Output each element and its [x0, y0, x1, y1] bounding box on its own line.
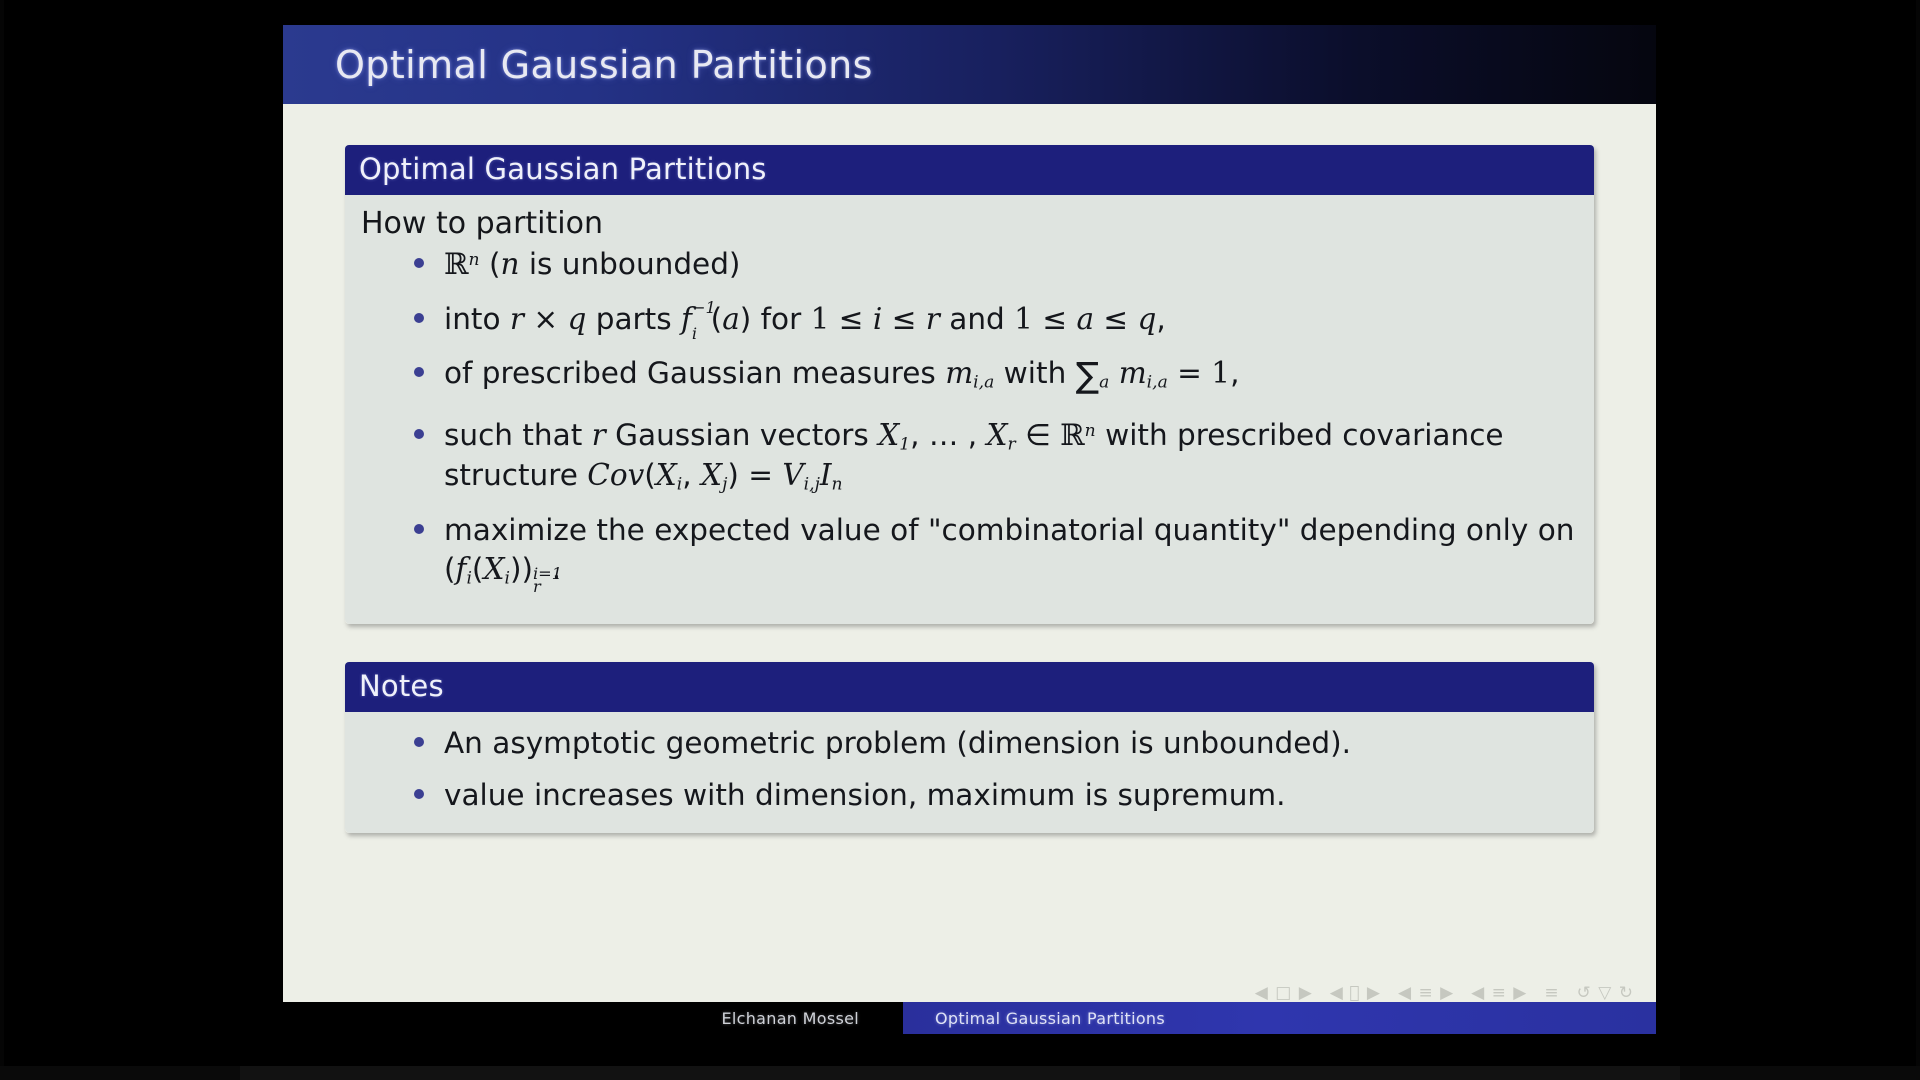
nav-symbol-toc[interactable]: ≡ [1544, 983, 1559, 1003]
bullet-dot-icon [414, 367, 424, 377]
frame-edge-left [0, 0, 4, 1080]
list-item-text: into r × q parts fi−1 (a) for 1 ≤ i ≤ r … [444, 302, 1166, 336]
frame-edge-right [1916, 0, 1920, 1080]
slide-footer: Elchanan Mossel Optimal Gaussian Partiti… [283, 1002, 1656, 1034]
bullet-dot-icon [414, 258, 424, 268]
nav-symbol-frame[interactable]: ◀ ⃒ ▶ [1330, 983, 1381, 1003]
list-item-text: of prescribed Gaussian measures mi,a wit… [444, 356, 1239, 390]
list-item: into r × q parts fi−1 (a) for 1 ≤ i ≤ r … [412, 300, 1576, 339]
block-body: How to partition ℝn (n is unbounded) int… [345, 195, 1594, 624]
block-title: Notes [345, 662, 1594, 712]
video-frame: Optimal Gaussian Partitions Optimal Gaus… [0, 0, 1920, 1080]
block-body: An asymptotic geometric problem (dimensi… [345, 712, 1594, 833]
beamer-navigation-symbols[interactable]: ◀ □ ▶ ◀ ⃒ ▶ ◀ ≡ ▶ ◀ ≡ ▶ ≡ ↺ ▽ ↻ [1255, 983, 1634, 1003]
list-item: ℝn (n is unbounded) [412, 245, 1576, 284]
nav-symbol-slide[interactable]: ◀ □ ▶ [1255, 983, 1313, 1003]
list-item-text: such that r Gaussian vectors X1, … , Xr … [444, 418, 1504, 492]
bottom-strip [0, 1066, 1920, 1080]
block-optimal-gaussian-partitions: Optimal Gaussian Partitions How to parti… [345, 145, 1594, 624]
bullet-dot-icon [414, 313, 424, 323]
list-item: of prescribed Gaussian measures mi,a wit… [412, 354, 1576, 400]
bullet-list: An asymptotic geometric problem (dimensi… [359, 724, 1576, 815]
bullet-dot-icon [414, 429, 424, 439]
slide-body: Optimal Gaussian Partitions How to parti… [283, 104, 1656, 1025]
bullet-dot-icon [414, 524, 424, 534]
list-item-text: value increases with dimension, maximum … [444, 778, 1286, 812]
block-lead-text: How to partition [359, 206, 1576, 245]
slide-title: Optimal Gaussian Partitions [283, 43, 873, 87]
nav-symbol-subsection[interactable]: ◀ ≡ ▶ [1398, 983, 1454, 1003]
nav-symbol-section[interactable]: ◀ ≡ ▶ [1471, 983, 1527, 1003]
list-item: maximize the expected value of "combinat… [412, 511, 1576, 589]
list-item-text: An asymptotic geometric problem (dimensi… [444, 726, 1351, 760]
bullet-list: ℝn (n is unbounded) into r × q parts fi−… [359, 245, 1576, 590]
slide-title-bar: Optimal Gaussian Partitions [283, 25, 1656, 104]
footer-author: Elchanan Mossel [283, 1002, 903, 1034]
footer-presentation-title: Optimal Gaussian Partitions [903, 1002, 1656, 1034]
nav-symbol-back-forward[interactable]: ↺ ▽ ↻ [1577, 983, 1634, 1003]
list-item: An asymptotic geometric problem (dimensi… [412, 724, 1576, 763]
block-notes: Notes An asymptotic geometric problem (d… [345, 662, 1594, 833]
list-item-text: ℝn (n is unbounded) [444, 247, 740, 281]
bullet-dot-icon [414, 737, 424, 747]
presentation-slide: Optimal Gaussian Partitions Optimal Gaus… [283, 25, 1656, 1025]
list-item-text: maximize the expected value of "combinat… [444, 513, 1574, 586]
bottom-strip-inner [240, 1066, 1680, 1080]
list-item: value increases with dimension, maximum … [412, 776, 1576, 815]
bullet-dot-icon [414, 789, 424, 799]
block-title: Optimal Gaussian Partitions [345, 145, 1594, 195]
list-item: such that r Gaussian vectors X1, … , Xr … [412, 416, 1576, 495]
